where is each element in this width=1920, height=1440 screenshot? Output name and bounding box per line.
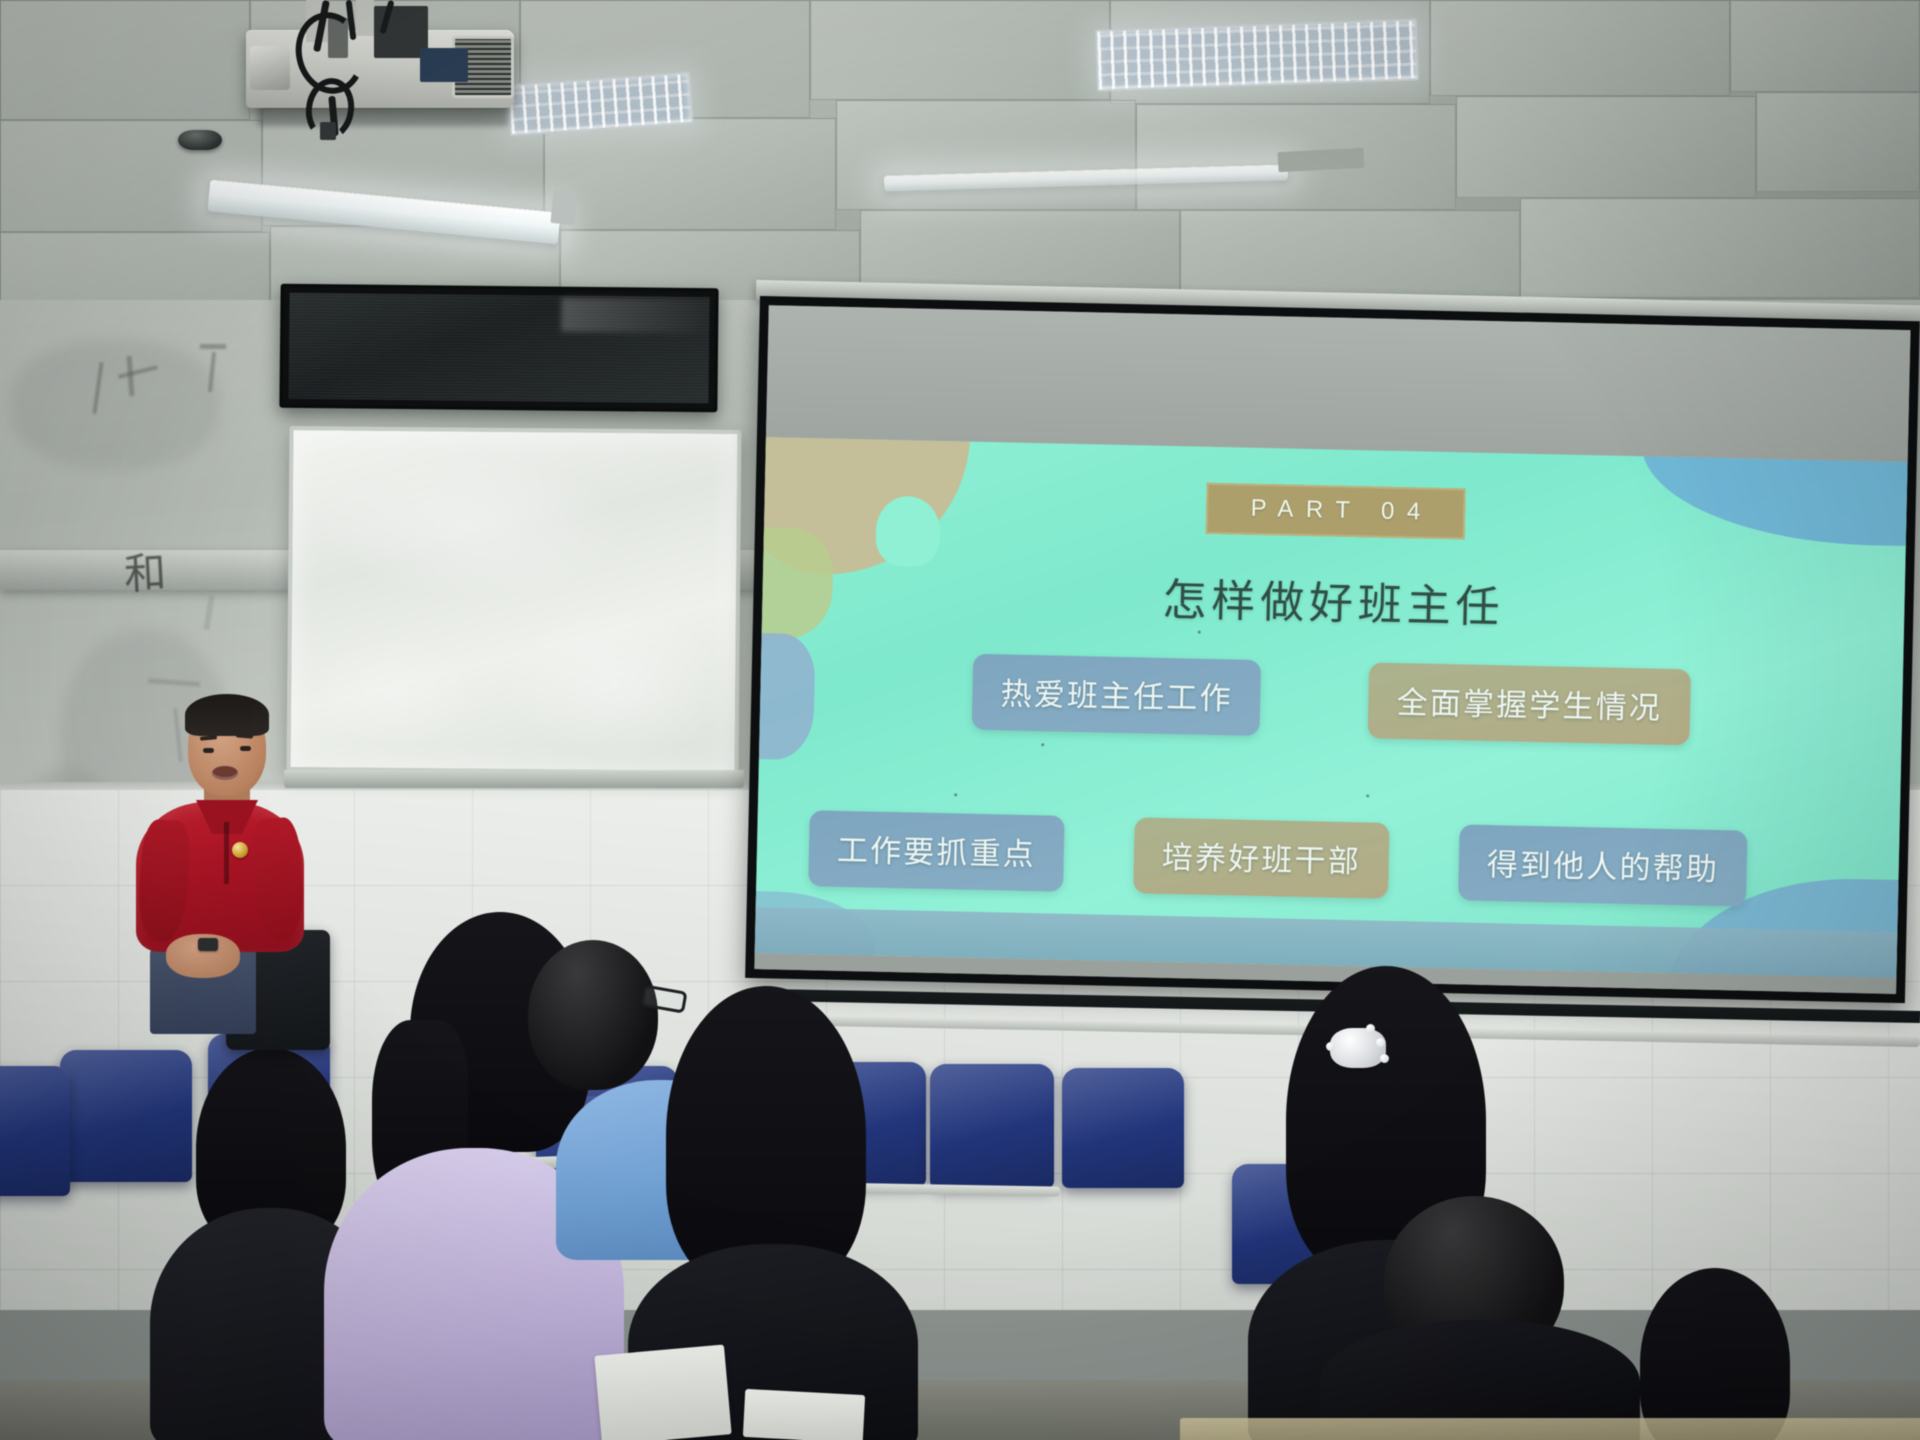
slide-pill: 培养好班干部 <box>1133 817 1390 899</box>
wall-handwriting: 和 <box>122 539 167 602</box>
audience-seating <box>0 1000 1920 1440</box>
classroom-photo: 和 <box>0 0 1920 1440</box>
slide-pill-row-top: 热爱班主任工作 全面掌握学生情况 <box>760 649 1903 750</box>
desk-surface <box>1180 1418 1920 1440</box>
slide-title: 怎样做好班主任 <box>1162 564 1505 635</box>
slide-pill: 全面掌握学生情况 <box>1368 662 1691 745</box>
slide-pill: 得到他人的帮助 <box>1458 824 1748 906</box>
slide-pill: 热爱班主任工作 <box>972 654 1262 736</box>
wristwatch <box>198 938 218 951</box>
recessed-panel-light <box>1095 18 1419 91</box>
seat[interactable] <box>930 1064 1054 1188</box>
slide-part-label: PART 04 <box>1238 494 1433 526</box>
gold-lapel-pin <box>232 842 248 858</box>
whiteboard-marker-tray <box>284 770 744 788</box>
presentation-slide: PART 04 怎样做好班主任 热爱班主任工作 全面掌握学生情况 工作要抓重点 … <box>755 437 1908 978</box>
seat[interactable] <box>1062 1068 1184 1188</box>
pull-down-projection-screen: PART 04 怎样做好班主任 热爱班主任工作 全面掌握学生情况 工作要抓重点 … <box>745 296 1920 1021</box>
presenter-mouth-open <box>212 766 238 780</box>
seat[interactable] <box>60 1050 192 1182</box>
whiteboard[interactable] <box>287 426 742 775</box>
slide-pill: 工作要抓重点 <box>808 810 1065 892</box>
decorative-blob-olive <box>755 526 834 640</box>
pearl-hair-clip <box>1330 1028 1386 1068</box>
slide-part-badge: PART 04 <box>1206 483 1466 540</box>
notebook[interactable] <box>594 1345 731 1440</box>
notebook[interactable] <box>743 1389 865 1440</box>
smoke-detector <box>178 130 222 150</box>
presenter-hair <box>185 694 269 736</box>
wall-display-panel-off[interactable] <box>279 284 718 413</box>
seat[interactable] <box>0 1066 70 1196</box>
slide-pill-row-bottom: 工作要抓重点 培养好班干部 得到他人的帮助 <box>808 810 1908 911</box>
decorative-blob-notch <box>875 496 941 567</box>
